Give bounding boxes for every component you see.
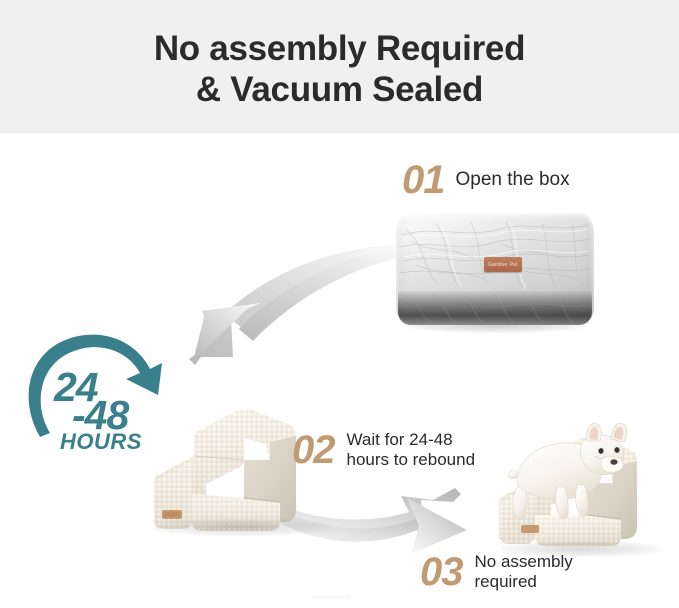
badge-unit-label: HOURS <box>60 431 142 453</box>
step-01-text-line-1: Open the box <box>456 169 570 191</box>
step-02-number: 02 <box>292 430 335 470</box>
pet-stairs-shadow <box>154 518 330 536</box>
arrow-package-to-stairs <box>175 245 405 370</box>
step-03-text-line-2: required <box>475 572 573 592</box>
page-title-line-2: & Vacuum Sealed <box>0 69 679 110</box>
step-02-text: Wait for 24-48 hours to rebound <box>347 430 476 469</box>
product-leather-tag <box>521 525 539 533</box>
step-03-number: 03 <box>420 552 463 592</box>
step-02-text-line-2: hours to rebound <box>347 450 476 470</box>
dog-on-stairs-illustration <box>495 415 670 560</box>
step-02-text-line-1: Wait for 24-48 <box>347 430 476 450</box>
package-base-texture <box>398 291 592 325</box>
vacuum-sealed-package-image: Gardner Pet <box>396 213 594 325</box>
package-brand-label: Gardner Pet <box>484 257 522 272</box>
watermark: WatermarkID <box>312 595 353 601</box>
step-01-text: Open the box <box>456 169 570 191</box>
package-compressed-base <box>398 291 592 325</box>
step-03-text: No assembly required <box>475 552 573 591</box>
step-03-text-line-1: No assembly <box>475 552 573 572</box>
page-title: No assembly Required & Vacuum Sealed <box>0 28 679 110</box>
infographic-canvas: No assembly Required & Vacuum Sealed <box>0 0 679 608</box>
dog-on-stairs-image <box>495 415 670 560</box>
package-brand-label-text: Gardner Pet <box>488 262 517 268</box>
page-title-line-1: No assembly Required <box>154 29 525 68</box>
step-01-number: 01 <box>402 160 445 200</box>
step-03: 03 No assembly required <box>420 552 573 592</box>
step-01: 01 Open the box <box>402 160 570 200</box>
step-02: 02 Wait for 24-48 hours to rebound <box>292 430 475 470</box>
